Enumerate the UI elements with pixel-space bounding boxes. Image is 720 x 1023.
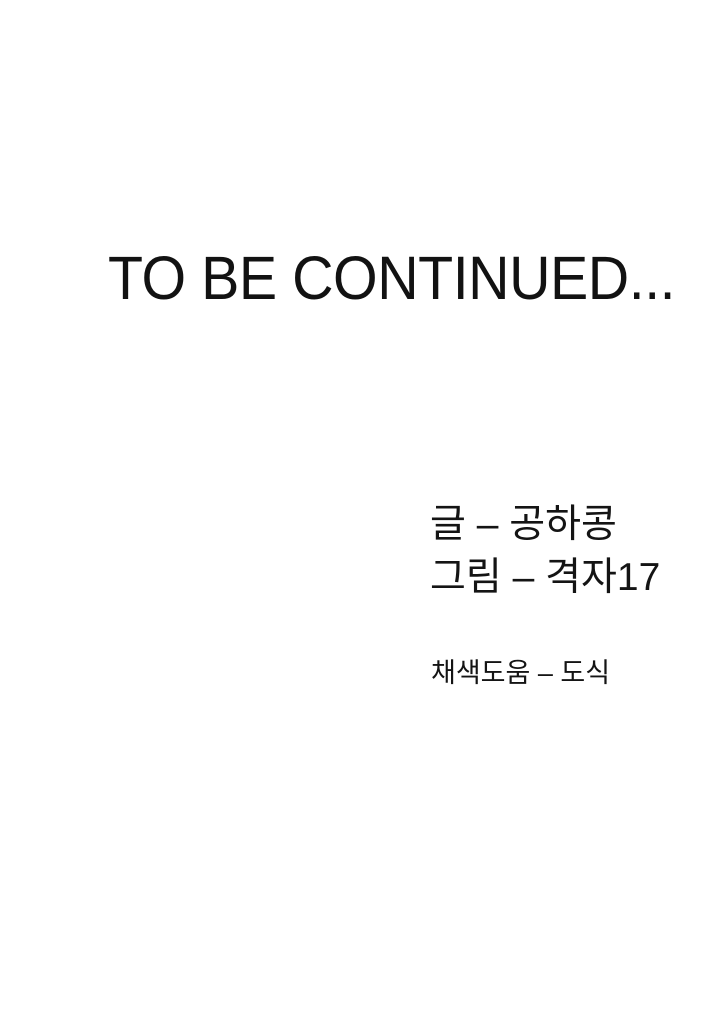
page-title: TO BE CONTINUED... bbox=[108, 249, 597, 307]
credit-line-writer: 글 – 공하콩 bbox=[430, 498, 680, 551]
comic-end-panel: TO BE CONTINUED... 글 – 공하콩 그림 – 격자17 채색도… bbox=[0, 0, 720, 1023]
credit-line-artist: 그림 – 격자17 bbox=[430, 551, 680, 604]
credits-secondary-block: 채색도움 – 도식 bbox=[431, 655, 681, 691]
credit-line-color-assist: 채색도움 – 도식 bbox=[431, 655, 681, 691]
credits-primary-block: 글 – 공하콩 그림 – 격자17 bbox=[430, 498, 680, 604]
